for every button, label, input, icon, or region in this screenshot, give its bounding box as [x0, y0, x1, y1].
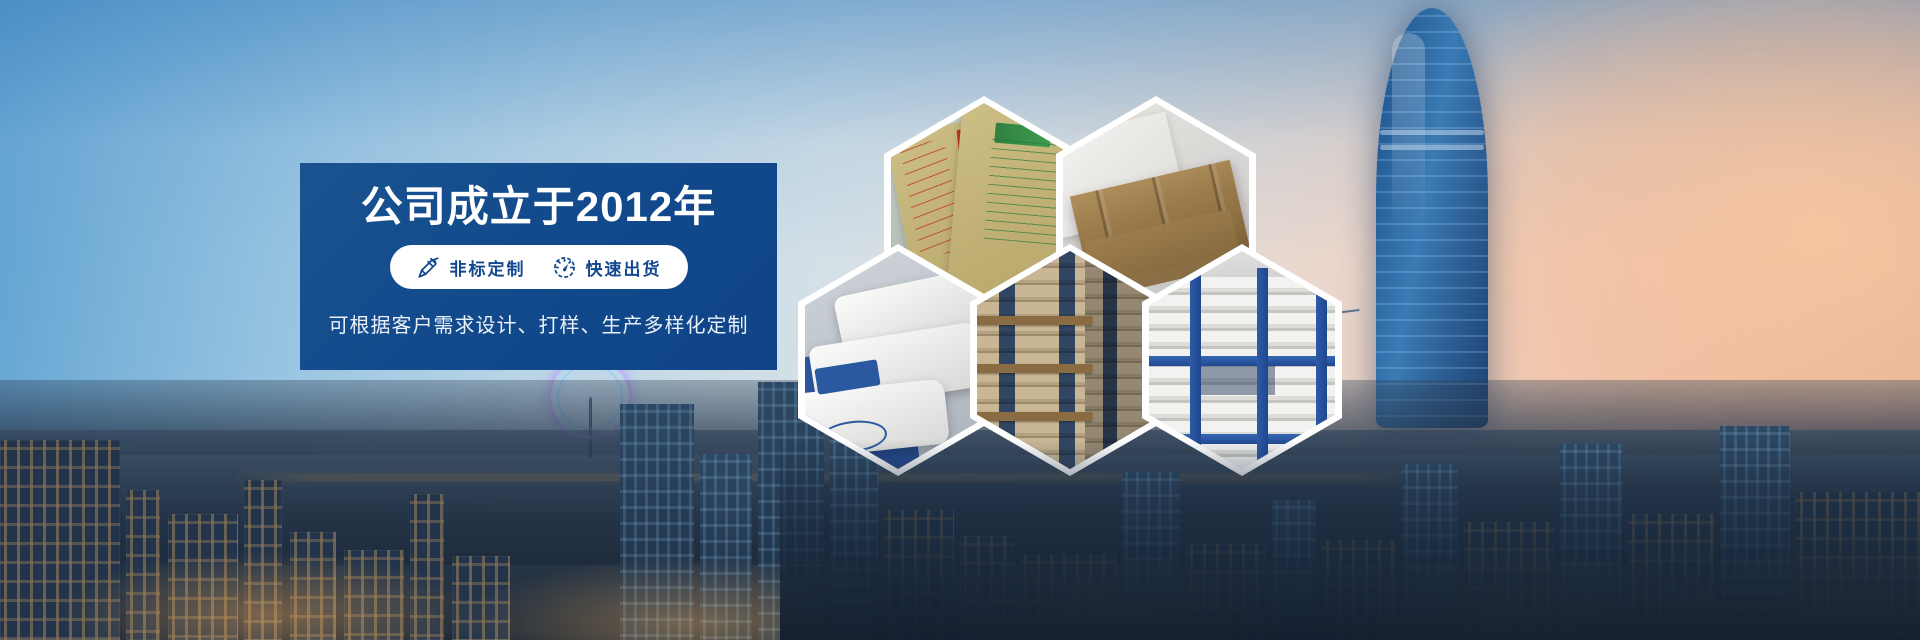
tower-band — [1380, 145, 1484, 150]
hex-gallery — [796, 88, 1356, 428]
speedometer-icon — [552, 255, 577, 280]
page-title: 公司成立于2012年 — [361, 185, 716, 229]
feature-custom[interactable]: 非标定制 — [416, 255, 526, 280]
hero-text-panel: 公司成立于2012年 非标定制 — [300, 163, 777, 370]
feature-pill: 非标定制 快速出货 — [390, 245, 688, 289]
hero-subtitle: 可根据客户需求设计、打样、生产多样化定制 — [329, 309, 749, 338]
feature-fast-shipping[interactable]: 快速出货 — [552, 255, 662, 280]
city-light-glow — [0, 430, 1920, 640]
curved-skyscraper-icon — [1376, 8, 1488, 428]
feature-custom-label: 非标定制 — [450, 255, 526, 280]
tower-band — [1380, 130, 1484, 135]
feature-fast-shipping-label: 快速出货 — [586, 255, 662, 280]
pen-custom-icon — [416, 255, 441, 280]
promo-banner: 公司成立于2012年 非标定制 — [0, 0, 1920, 640]
